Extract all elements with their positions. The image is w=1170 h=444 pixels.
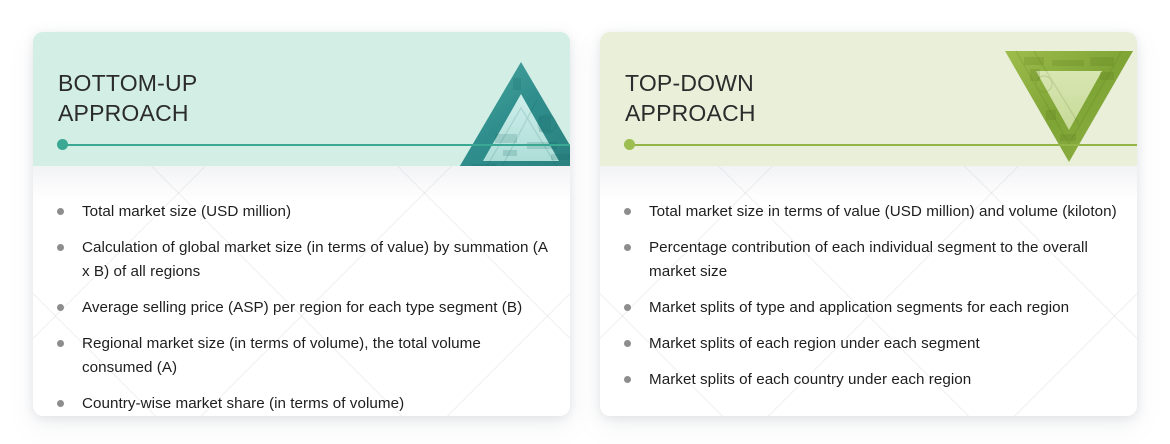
bullet-dot-icon [624, 208, 631, 215]
list-item-label: Calculation of global market size (in te… [82, 236, 554, 284]
list-item-label: Average selling price (ASP) per region f… [82, 296, 522, 320]
triangle-down-icon [1000, 38, 1137, 166]
card-header-bottom-up: BOTTOM-UP APPROACH [33, 32, 570, 166]
bullet-dot-icon [57, 208, 64, 215]
card-header-top-down: TOP-DOWN APPROACH [600, 32, 1137, 166]
bullet-list-top-down: Total market size in terms of value (USD… [624, 200, 1119, 404]
rule-line [630, 144, 1137, 146]
list-item-label: Total market size in terms of value (USD… [649, 200, 1117, 224]
list-item: Percentage contribution of each individu… [624, 236, 1119, 284]
list-item-label: Country-wise market share (in terms of v… [82, 392, 404, 416]
list-item: Total market size (USD million) [57, 200, 554, 224]
bullet-dot-icon [624, 340, 631, 347]
header-fade [33, 166, 570, 202]
bullet-dot-icon [624, 376, 631, 383]
list-item-label: Percentage contribution of each individu… [649, 236, 1119, 284]
list-item: Regional market size (in terms of volume… [57, 332, 554, 380]
bullet-list-bottom-up: Total market size (USD million) Calculat… [57, 200, 554, 416]
list-item-label: Market splits of each country under each… [649, 368, 971, 392]
list-item-label: Market splits of each region under each … [649, 332, 980, 356]
bullet-dot-icon [624, 244, 631, 251]
card-title-top-down: TOP-DOWN APPROACH [625, 68, 756, 128]
bullet-dot-icon [57, 304, 64, 311]
list-item: Country-wise market share (in terms of v… [57, 392, 554, 416]
list-item: Market splits of type and application se… [624, 296, 1119, 320]
list-item: Average selling price (ASP) per region f… [57, 296, 554, 320]
bullet-dot-icon [57, 400, 64, 407]
card-top-down: TOP-DOWN APPROACH [600, 32, 1137, 416]
card-title-bottom-up: BOTTOM-UP APPROACH [58, 68, 197, 128]
list-item: Market splits of each region under each … [624, 332, 1119, 356]
card-bottom-up: BOTTOM-UP APPROACH [33, 32, 570, 416]
list-item: Market splits of each country under each… [624, 368, 1119, 392]
list-item-label: Total market size (USD million) [82, 200, 291, 224]
rule-dot [624, 139, 635, 150]
list-item: Total market size in terms of value (USD… [624, 200, 1119, 224]
header-rule-bottom-up [57, 143, 570, 146]
list-item-label: Regional market size (in terms of volume… [82, 332, 554, 380]
header-fade [600, 166, 1137, 202]
header-rule-top-down [624, 143, 1137, 146]
rule-line [63, 144, 570, 146]
rule-dot [57, 139, 68, 150]
bullet-dot-icon [57, 244, 64, 251]
list-item-label: Market splits of type and application se… [649, 296, 1069, 320]
bullet-dot-icon [624, 304, 631, 311]
list-item: Calculation of global market size (in te… [57, 236, 554, 284]
bullet-dot-icon [57, 340, 64, 347]
comparison-board: BOTTOM-UP APPROACH [0, 0, 1170, 444]
triangle-up-icon [451, 38, 570, 166]
